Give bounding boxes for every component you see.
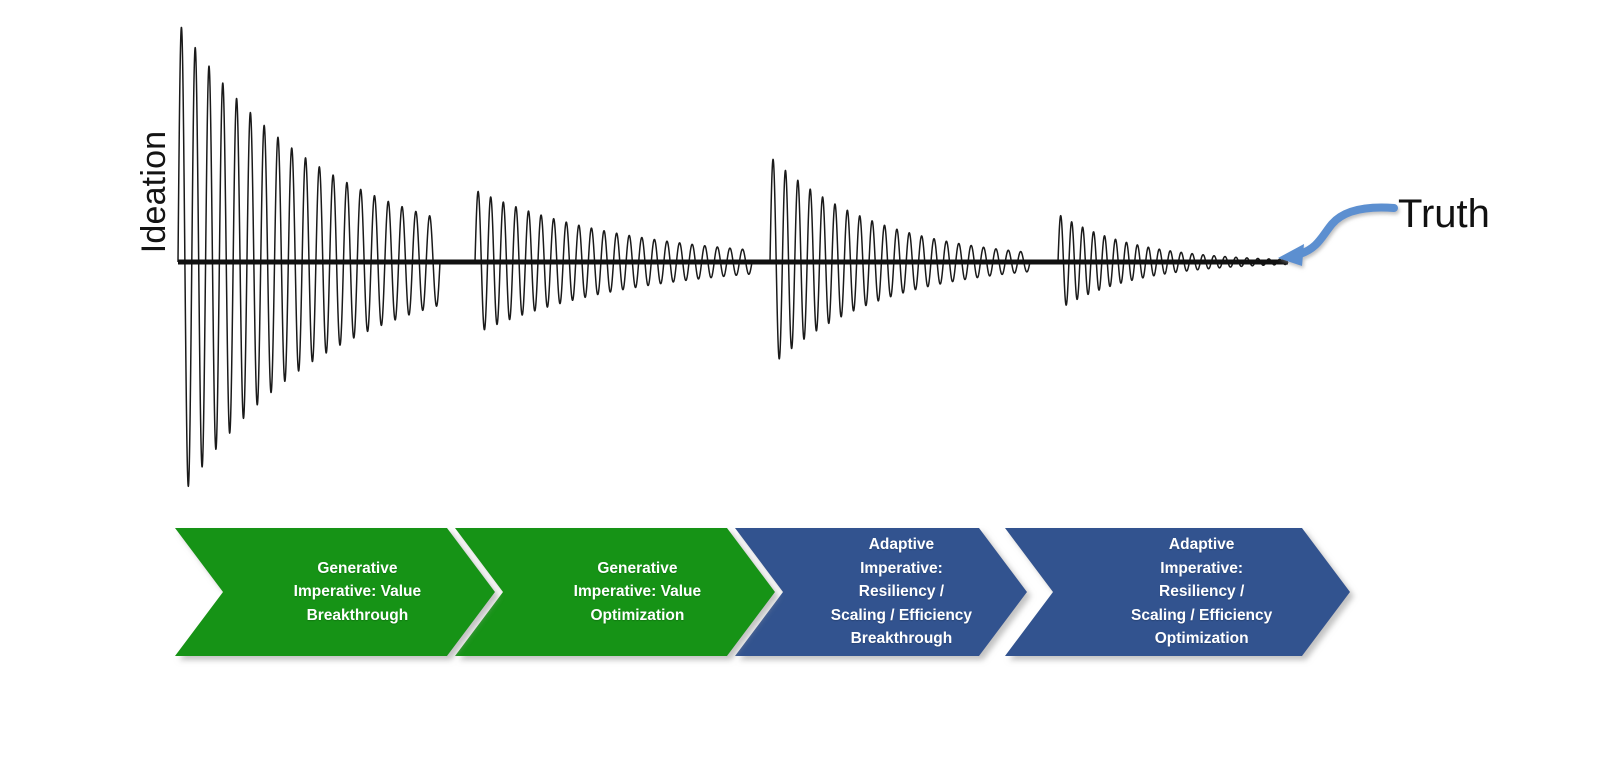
phase-chevron-band: Generative Imperative: Value Breakthroug…: [175, 528, 1350, 656]
chevron-label: Generative Imperative: Value Breakthroug…: [242, 557, 472, 628]
phase-chevron-generative-breakthrough[interactable]: Generative Imperative: Value Breakthroug…: [175, 528, 495, 656]
ideation-waveform-plot: [160, 10, 1340, 510]
waveform-segment-1: [178, 28, 440, 487]
chevron-label: Generative Imperative: Value Optimizatio…: [522, 557, 752, 628]
waveform-svg: [160, 10, 1340, 510]
curved-arrow-icon: [1278, 208, 1394, 266]
phase-chevron-generative-optimization[interactable]: Generative Imperative: Value Optimizatio…: [455, 528, 775, 656]
truth-callout: Truth: [1270, 178, 1600, 288]
waveform-traces: [178, 28, 1288, 487]
callout-arrow-svg: [1270, 178, 1400, 288]
chevron-label: Adaptive Imperative: Resiliency / Scalin…: [796, 533, 1006, 651]
phase-chevron-adaptive-optimization[interactable]: Adaptive Imperative: Resiliency / Scalin…: [1005, 528, 1350, 656]
waveform-segment-3: [770, 159, 1030, 358]
phase-chevron-adaptive-breakthrough[interactable]: Adaptive Imperative: Resiliency / Scalin…: [735, 528, 1027, 656]
chevron-label: Adaptive Imperative: Resiliency / Scalin…: [1077, 533, 1325, 651]
truth-label: Truth: [1398, 192, 1490, 237]
slide-canvas: Ideation Truth Generative Imperative: Va…: [0, 0, 1600, 776]
